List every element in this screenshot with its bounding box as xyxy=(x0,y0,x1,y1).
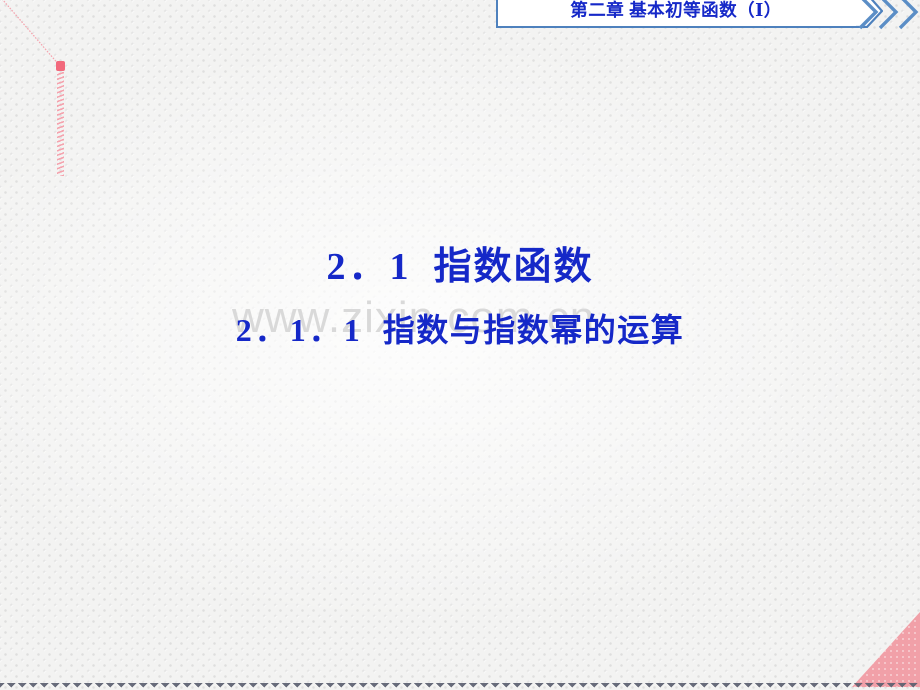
double-chevron-right-icon xyxy=(856,0,920,30)
chapter-banner: 第二章 基本初等函数（Ⅰ） xyxy=(496,0,856,28)
subsection-title: 2．1．1指数与指数幂的运算 xyxy=(0,310,920,350)
title-block: 2．1指数函数 2．1．1指数与指数幂的运算 xyxy=(0,244,920,350)
pink-corner-wedge xyxy=(810,612,920,687)
subsection-number: 2．1．1 xyxy=(236,312,363,348)
section-title-text: 指数函数 xyxy=(434,246,594,288)
presentation-slide: 第二章 基本初等函数（Ⅰ） www.zixin.com.cn 2．1指数函数 2… xyxy=(0,0,920,690)
pink-dashed-line xyxy=(57,72,64,176)
sawtooth-strip xyxy=(0,683,920,690)
subsection-title-text: 指数与指数幂的运算 xyxy=(383,312,685,348)
chapter-title: 第二章 基本初等函数（Ⅰ） xyxy=(570,2,782,21)
pink-accent-dot xyxy=(56,61,65,71)
section-number: 2．1 xyxy=(326,246,411,288)
section-title: 2．1指数函数 xyxy=(0,244,920,292)
